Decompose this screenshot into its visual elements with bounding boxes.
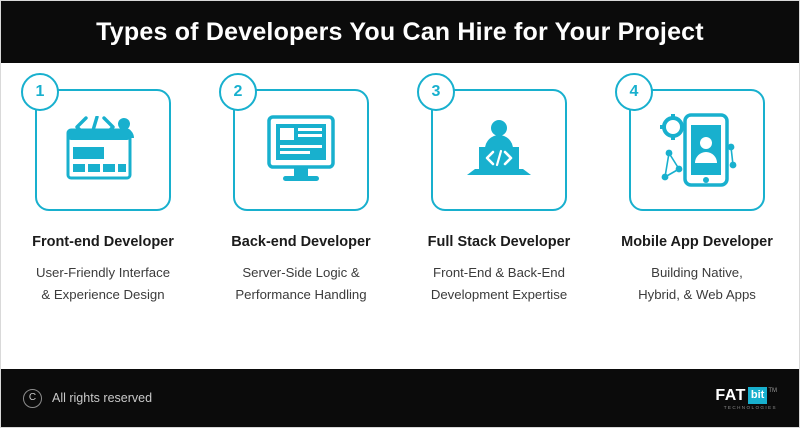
card-description: Building Native, Hybrid, & Web Apps: [611, 262, 783, 306]
icon-frame: 1: [35, 89, 171, 211]
infographic-page: Types of Developers You Can Hire for You…: [0, 0, 800, 428]
trademark-icon: TM: [768, 387, 777, 404]
card-description: Front-End & Back-End Development Experti…: [413, 262, 585, 306]
card-item[interactable]: 2: [213, 89, 389, 306]
brand-main-text: FAT: [715, 387, 746, 404]
step-number-badge: 2: [219, 73, 257, 111]
card-description-line: Hybrid, & Web Apps: [611, 284, 783, 306]
brand-row: FAT bit TM: [715, 387, 777, 404]
brand-logo: FAT bit TM TECHNOLOGIES: [715, 387, 777, 410]
header-bar: Types of Developers You Can Hire for You…: [1, 1, 799, 63]
card-description-line: Server-Side Logic &: [215, 262, 387, 284]
browser-code-user-icon: [64, 116, 142, 184]
brand-accent-text: bit: [748, 387, 767, 404]
card-list: 1: [1, 63, 799, 306]
card-item[interactable]: 3 Full Stack Developer: [411, 89, 587, 306]
card-description-line: User-Friendly Interface: [17, 262, 189, 284]
card-description-line: Front-End & Back-End: [413, 262, 585, 284]
step-number-badge: 3: [417, 73, 455, 111]
card-description: Server-Side Logic & Performance Handling: [215, 262, 387, 306]
card-description-line: Building Native,: [611, 262, 783, 284]
step-number-badge: 1: [21, 73, 59, 111]
smartphone-gear-user-icon: [655, 113, 739, 187]
copyright-block: C All rights reserved: [23, 389, 152, 408]
copyright-icon: C: [23, 389, 42, 408]
card-description-line: Performance Handling: [215, 284, 387, 306]
card-title: Full Stack Developer: [428, 233, 571, 251]
page-title: Types of Developers You Can Hire for You…: [96, 18, 704, 47]
card-title: Front-end Developer: [32, 233, 174, 251]
icon-frame: 3: [431, 89, 567, 211]
brand-subtitle: TECHNOLOGIES: [724, 405, 777, 410]
card-title: Mobile App Developer: [621, 233, 773, 251]
card-description: User-Friendly Interface & Experience Des…: [17, 262, 189, 306]
footer-bar: C All rights reserved FAT bit TM TECHNOL…: [1, 369, 799, 427]
main-content: 1: [1, 63, 799, 369]
step-number-badge: 4: [615, 73, 653, 111]
card-item[interactable]: 1: [15, 89, 191, 306]
monitor-server-icon: [265, 115, 337, 185]
copyright-text: All rights reserved: [52, 391, 152, 405]
card-description-line: & Experience Design: [17, 284, 189, 306]
icon-frame: 4: [629, 89, 765, 211]
icon-frame: 2: [233, 89, 369, 211]
card-description-line: Development Expertise: [413, 284, 585, 306]
card-item[interactable]: 4: [609, 89, 785, 306]
card-title: Back-end Developer: [231, 233, 370, 251]
developer-laptop-icon: [461, 119, 537, 181]
